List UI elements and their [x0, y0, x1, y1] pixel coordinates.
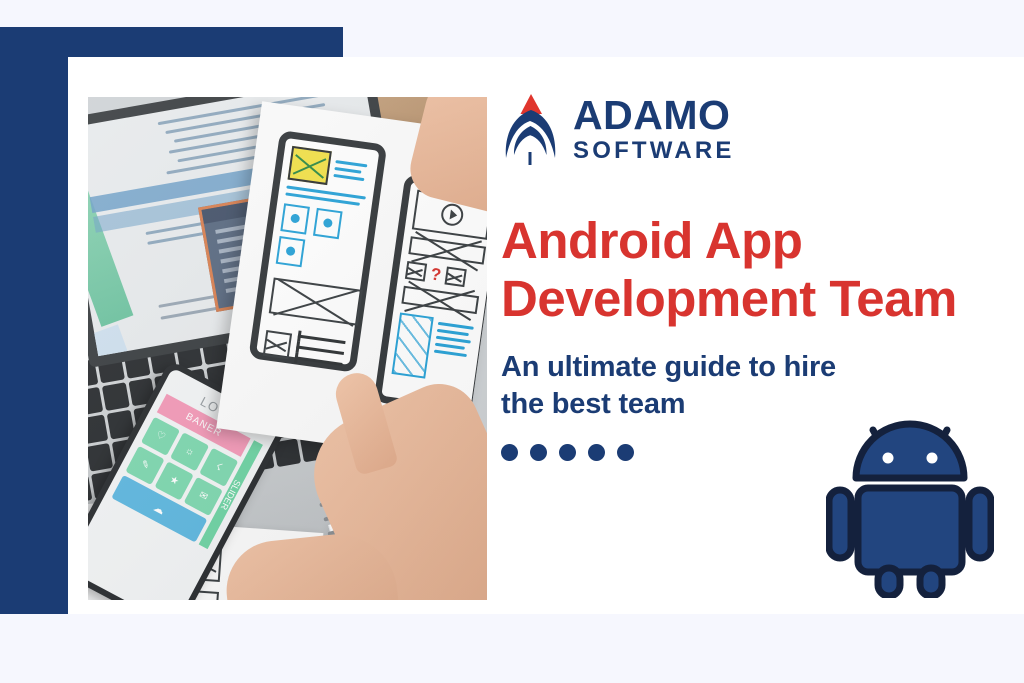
- brand-tagline: SOFTWARE: [573, 139, 735, 163]
- content-column: ADAMO SOFTWARE Android App Development T…: [501, 90, 1001, 461]
- hero-photo-inner: LOGO BANER ♡ ☼ ☇ ✎ ★ ✉ ☁: [88, 97, 487, 600]
- page-subtitle: An ultimate guide to hire the best team: [501, 349, 1001, 422]
- photo-overlay: [88, 97, 487, 600]
- dot: [559, 444, 576, 461]
- dot: [588, 444, 605, 461]
- dot: [501, 444, 518, 461]
- brand-wordmark: ADAMO SOFTWARE: [573, 95, 735, 163]
- page-title: Android App Development Team: [501, 212, 1001, 328]
- adamo-swoosh-logo-icon: [501, 92, 559, 166]
- dot: [617, 444, 634, 461]
- page-title-line-2: Development Team: [501, 270, 957, 327]
- page-subtitle-line-2: the best team: [501, 388, 685, 420]
- brand-logo[interactable]: ADAMO SOFTWARE: [501, 90, 1001, 168]
- brand-name: ADAMO: [573, 95, 735, 136]
- banner-canvas: LOGO BANER ♡ ☼ ☇ ✎ ★ ✉ ☁: [0, 0, 1024, 683]
- hero-photo: LOGO BANER ♡ ☼ ☇ ✎ ★ ✉ ☁: [88, 97, 487, 600]
- page-subtitle-line-1: An ultimate guide to hire: [501, 351, 836, 383]
- dot: [530, 444, 547, 461]
- page-title-line-1: Android App: [501, 212, 802, 269]
- android-robot-icon: [826, 420, 994, 598]
